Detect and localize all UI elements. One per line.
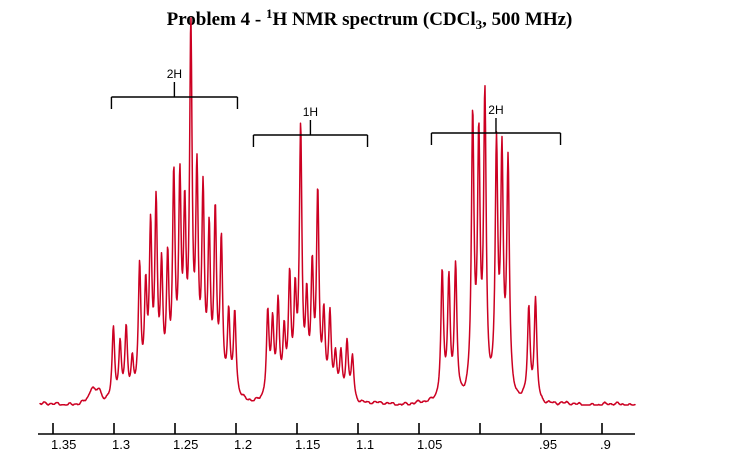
- x-axis-tick-label: 1.15: [295, 437, 320, 452]
- spectrum-trace: [40, 18, 635, 405]
- integral-label: 2H: [488, 103, 503, 117]
- spectrum-trace-group: [40, 18, 635, 405]
- x-axis-tick-label: 1.1: [356, 437, 374, 452]
- x-axis-tick-label: 1.35: [51, 437, 76, 452]
- x-axis-tick-label: .95: [539, 437, 557, 452]
- integral-label: 1H: [303, 105, 318, 119]
- x-axis-tick-label: 1.05: [417, 437, 442, 452]
- axis-group: [38, 423, 635, 434]
- x-axis-tick-label: 1.3: [112, 437, 130, 452]
- integral-label: 2H: [167, 67, 182, 81]
- nmr-spectrum-plot: [0, 0, 739, 463]
- x-axis-tick-label: .9: [600, 437, 611, 452]
- x-axis-tick-label: 1.2: [234, 437, 252, 452]
- x-axis-tick-label: 1.25: [173, 437, 198, 452]
